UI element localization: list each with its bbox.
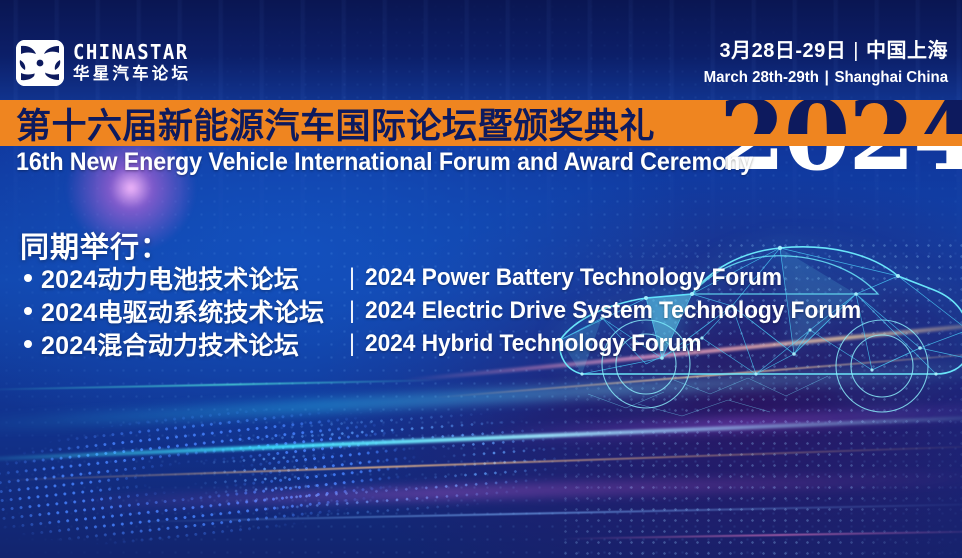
date-cn-text: 3月28日-29日 [720,40,847,62]
page-title-cn: 第十六届新能源汽车国际论坛暨颁奖典礼 [16,100,655,146]
page-title-en: 16th New Energy Vehicle International Fo… [16,148,753,177]
forum-name-cn: 2024混合动力技术论坛 [41,326,339,362]
list-item: 2024动力电池技术论坛 | 2024 Power Battery Techno… [24,262,887,293]
streak-blue-1 [120,503,962,523]
streak-magenta-2 [560,530,962,540]
logo-name-cn: 华星汽车论坛 [73,66,191,83]
event-banner: CHINASTAR 华星汽车论坛 3月28日-29日|中国上海 March 28… [0,0,962,558]
forum-name-cn: 2024电驱动系统技术论坛 [41,293,339,329]
forum-name-en: 2024 Hybrid Technology Forum [365,330,701,358]
forum-divider: | [339,330,365,358]
event-date-location: 3月28日-29日|中国上海 March 28th-29th|Shanghai … [688,41,948,86]
bullet-icon [24,274,32,282]
location-cn-text: 中国上海 [866,40,948,62]
date-separator-cn: | [853,40,859,62]
forum-name-en: 2024 Power Battery Technology Forum [365,264,782,292]
streak-teal-1 [0,379,440,391]
bullet-icon [24,307,32,315]
list-item: 2024电驱动系统技术论坛 | 2024 Electric Drive Syst… [24,295,887,326]
date-en-text: March 28th-29th [704,69,819,86]
date-line-en: March 28th-29th|Shanghai China [704,70,948,86]
forum-name-en: 2024 Electric Drive System Technology Fo… [365,297,861,325]
location-en-text: Shanghai China [834,69,948,86]
forum-name-cn: 2024动力电池技术论坛 [41,260,339,296]
chinastar-logo[interactable]: CHINASTAR 华星汽车论坛 [16,40,191,86]
list-item: 2024混合动力技术论坛 | 2024 Hybrid Technology Fo… [24,328,887,359]
logo-name-en: CHINASTAR [73,43,191,63]
date-line-cn: 3月28日-29日|中国上海 [688,41,948,61]
star-emblem-icon [16,40,64,86]
date-separator-en: | [824,69,828,86]
bullet-icon [24,340,32,348]
forum-divider: | [339,264,365,292]
forum-divider: | [339,297,365,325]
concurrent-forum-list: 2024动力电池技术论坛 | 2024 Power Battery Techno… [24,262,887,361]
